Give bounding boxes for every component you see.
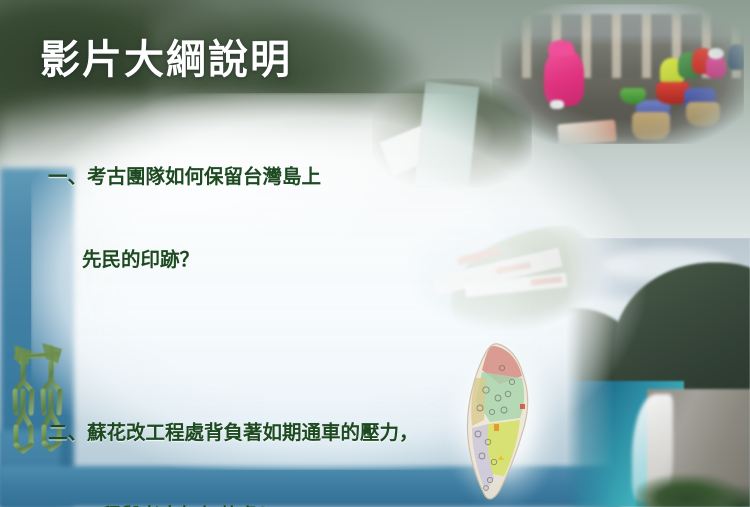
outline-item-1-line1: 一、考古團隊如何保留台灣島上 (48, 163, 518, 191)
worker-blue (728, 44, 744, 70)
worker-pink-cap (548, 40, 574, 56)
presentation-slide: 影片大綱說明 一、考古團隊如何保留台灣島上 先民的印跡？ 二、蘇花改工程處背負著… (0, 0, 750, 507)
outline-item-2-line2: 工程與考古如何共處？ (48, 502, 518, 507)
outline-item-2: 二、蘇花改工程處背負著如期通車的壓力， 工程與考古如何共處？ (48, 364, 518, 507)
outline-list: 一、考古團隊如何保留台灣島上 先民的印跡？ 二、蘇花改工程處背負著如期通車的壓力… (48, 108, 518, 507)
bucket-tan-2 (686, 102, 720, 126)
outline-item-2-line1: 二、蘇花改工程處背負著如期通車的壓力， (48, 419, 518, 447)
coast-foreground-trees (636, 469, 750, 507)
worker-white-cap (708, 48, 724, 59)
outline-item-1-line2: 先民的印跡？ (48, 246, 518, 274)
page-title: 影片大綱說明 (40, 27, 292, 85)
outline-item-1: 一、考古團隊如何保留台灣島上 先民的印跡？ (48, 108, 518, 330)
